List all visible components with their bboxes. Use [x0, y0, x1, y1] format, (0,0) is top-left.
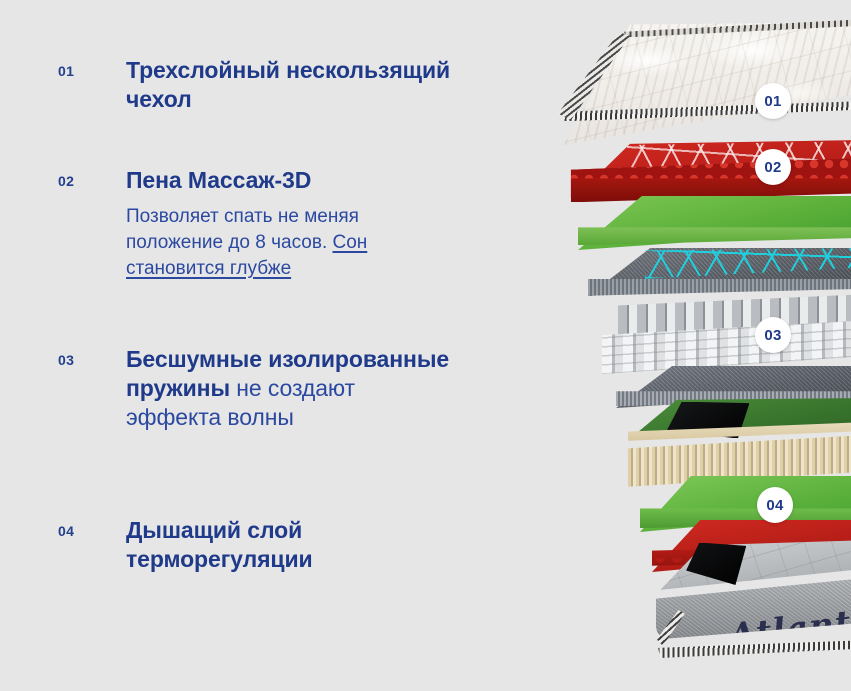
badge-03[interactable]: 03 — [755, 317, 791, 353]
feature-ordinal: 01 — [58, 56, 126, 78]
base-zipper — [658, 640, 851, 658]
feature-body-text: Позволяет спать не меняя положение до 8 … — [126, 206, 359, 253]
feature-ordinal: 04 — [58, 516, 126, 538]
feature-heading: Дышащий слой терморегуляции — [126, 516, 456, 574]
feature-text: Бесшумные изолированные пружины не созда… — [126, 345, 456, 433]
layer-red-massage-foam — [568, 140, 851, 204]
feature-heading: Трехслойный нескользящий чехол — [126, 56, 456, 114]
feature-list: 01 Трехслойный нескользящий чехол 02 Пен… — [0, 0, 500, 691]
badge-04[interactable]: 04 — [757, 487, 793, 523]
feature-item-01: 01 Трехслойный нескользящий чехол — [58, 56, 456, 114]
feature-body: Позволяет спать не меняя положение до 8 … — [126, 204, 456, 281]
feature-ordinal: 02 — [58, 166, 126, 188]
feature-text: Дышащий слой терморегуляции — [126, 516, 456, 574]
layer-base-mattress: Atlant — [656, 540, 851, 665]
infographic-stage: 01 Трехслойный нескользящий чехол 02 Пен… — [0, 0, 851, 691]
feature-item-02: 02 Пена Массаж-3D Позволяет спать не мен… — [58, 166, 456, 282]
badge-02[interactable]: 02 — [755, 149, 791, 185]
feature-heading: Бесшумные изолированные пружины не созда… — [126, 345, 456, 433]
feature-heading: Пена Массаж-3D — [126, 166, 456, 195]
layer-quilted-cover — [558, 22, 851, 150]
feature-ordinal: 03 — [58, 345, 126, 367]
layer-green-foam-slab — [578, 196, 851, 250]
feature-text: Трехслойный нескользящий чехол — [126, 56, 456, 114]
green-slab-edge — [578, 227, 851, 245]
layer-felt-hex-mesh — [588, 248, 851, 296]
feature-text: Пена Массаж-3D Позволяет спать не меняя … — [126, 166, 456, 282]
mattress-exploded-illustration: Atlant — [520, 0, 851, 691]
feature-item-04: 04 Дышащий слой терморегуляции — [58, 516, 456, 574]
badge-01[interactable]: 01 — [755, 83, 791, 119]
cover-quilt-stitching — [558, 22, 851, 150]
feature-item-03: 03 Бесшумные изолированные пружины не со… — [58, 345, 456, 433]
